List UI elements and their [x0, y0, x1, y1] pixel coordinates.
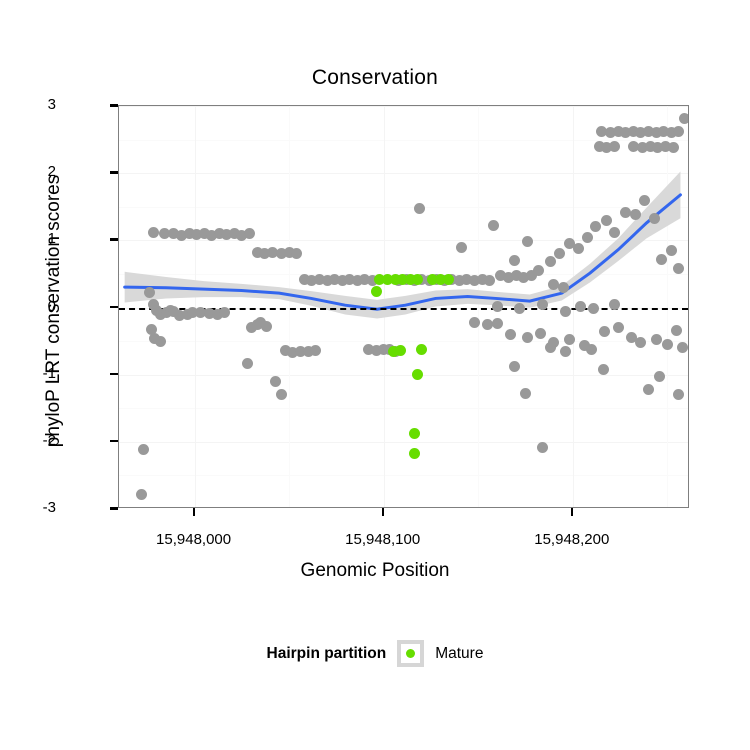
loess-trend-line — [119, 106, 688, 507]
y-tick-label: 3 — [0, 96, 56, 113]
y-tick — [110, 373, 118, 376]
data-point-other — [679, 113, 689, 124]
data-point-other — [609, 227, 620, 238]
data-point-mature — [443, 274, 454, 285]
data-point-other — [662, 339, 673, 350]
legend-dot-icon — [406, 649, 415, 658]
data-point-other — [155, 336, 166, 347]
data-point-other — [148, 227, 159, 238]
chart-root: Conservation phyloP LRT conservation sco… — [0, 0, 750, 750]
data-point-other — [505, 329, 516, 340]
data-point-other — [456, 242, 467, 253]
x-tick — [193, 508, 196, 516]
data-point-other — [560, 306, 571, 317]
data-point-other — [651, 334, 662, 345]
legend-key-mature[interactable] — [397, 640, 424, 667]
data-point-other — [520, 388, 531, 399]
data-point-other — [564, 334, 575, 345]
data-point-mature — [409, 448, 420, 459]
y-tick-label: -3 — [0, 499, 56, 516]
data-point-other — [488, 220, 499, 231]
data-point-other — [509, 255, 520, 266]
data-point-mature — [409, 428, 420, 439]
data-point-other — [582, 232, 593, 243]
data-point-other — [560, 346, 571, 357]
data-point-other — [414, 203, 425, 214]
data-point-other — [144, 287, 155, 298]
data-point-mature — [371, 286, 382, 297]
plot-panel — [118, 105, 689, 508]
data-point-other — [545, 256, 556, 267]
legend-label-mature: Mature — [435, 645, 483, 663]
data-point-other — [586, 344, 597, 355]
data-point-other — [668, 142, 679, 153]
data-point-other — [630, 209, 641, 220]
data-point-other — [136, 489, 147, 500]
legend: Hairpin partition Mature — [0, 640, 750, 667]
y-tick — [110, 306, 118, 309]
data-point-other — [639, 195, 650, 206]
x-tick-label: 15,948,100 — [313, 531, 453, 548]
data-point-mature — [412, 274, 423, 285]
y-tick — [110, 238, 118, 241]
data-point-other — [649, 213, 660, 224]
y-tick — [110, 440, 118, 443]
data-point-other — [601, 215, 612, 226]
y-tick-label: -2 — [0, 432, 56, 449]
data-point-other — [509, 361, 520, 372]
data-point-other — [522, 332, 533, 343]
data-point-other — [599, 326, 610, 337]
y-tick-label: -1 — [0, 365, 56, 382]
data-point-other — [575, 301, 586, 312]
data-point-other — [598, 364, 609, 375]
data-point-other — [666, 245, 677, 256]
data-point-other — [656, 254, 667, 265]
x-tick-label: 15,948,200 — [502, 531, 642, 548]
data-point-other — [522, 236, 533, 247]
data-point-other — [609, 299, 620, 310]
data-point-other — [545, 342, 556, 353]
data-point-other — [492, 301, 503, 312]
y-tick — [110, 104, 118, 107]
data-point-other — [609, 141, 620, 152]
data-point-mature — [416, 344, 427, 355]
chart-title: Conservation — [0, 66, 750, 90]
data-point-other — [537, 442, 548, 453]
y-tick-label: 0 — [0, 298, 56, 315]
y-tick — [110, 507, 118, 510]
data-point-other — [469, 317, 480, 328]
x-axis-label: Genomic Position — [0, 560, 750, 582]
y-tick — [110, 171, 118, 174]
data-point-other — [492, 318, 503, 329]
data-point-other — [558, 282, 569, 293]
y-tick-label: 1 — [0, 230, 56, 247]
x-tick — [571, 508, 574, 516]
data-point-other — [613, 322, 624, 333]
data-point-other — [261, 321, 272, 332]
x-tick-label: 15,948,000 — [124, 531, 264, 548]
y-tick-label: 2 — [0, 163, 56, 180]
data-point-other — [654, 371, 665, 382]
data-point-other — [643, 384, 654, 395]
legend-title: Hairpin partition — [267, 645, 387, 663]
data-point-other — [573, 243, 584, 254]
data-point-other — [535, 328, 546, 339]
x-tick — [382, 508, 385, 516]
